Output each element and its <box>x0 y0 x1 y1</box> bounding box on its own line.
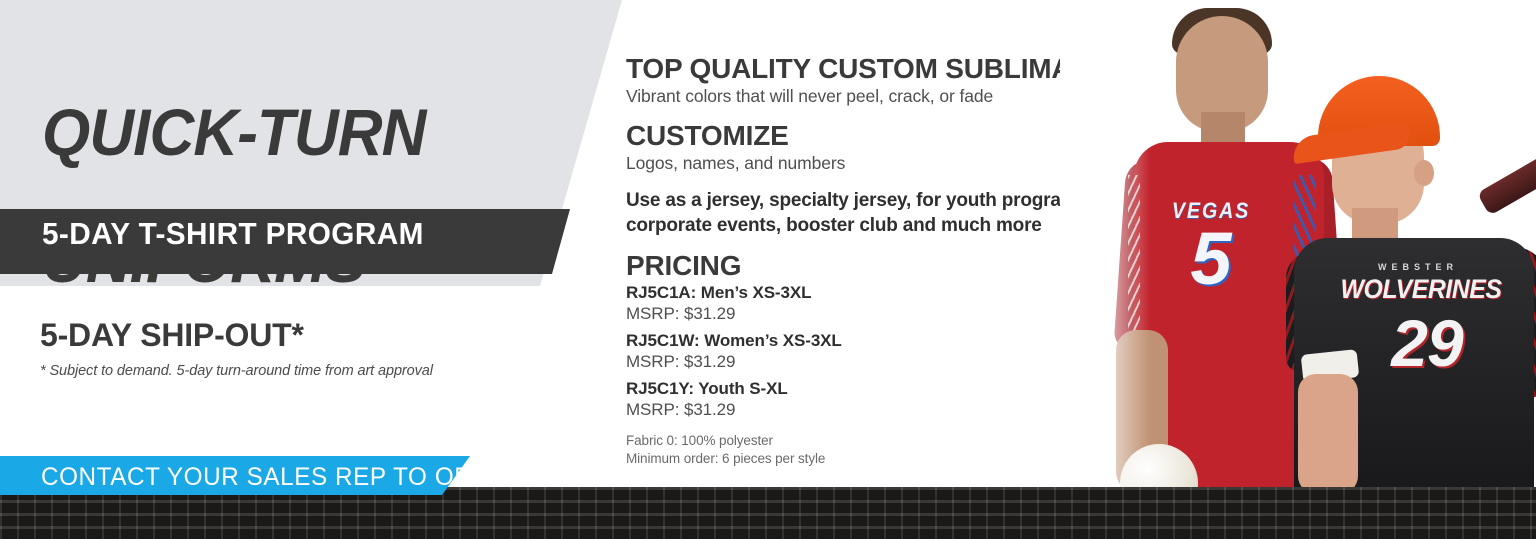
price-item-code: RJ5C1Y: Youth S-XL <box>626 379 788 399</box>
program-banner-label: 5-DAY T-SHIRT PROGRAM <box>42 216 424 252</box>
price-item-code: RJ5C1W: Women’s XS-3XL <box>626 331 842 351</box>
jersey-number-black: 29 <box>1352 310 1502 376</box>
price-item-msrp: MSRP: $31.29 <box>626 400 735 420</box>
minimum-order-note: Minimum order: 6 pieces per style <box>626 449 825 468</box>
jersey-team-prefix: WEBSTER <box>1338 262 1498 272</box>
page-title: QUICK-TURN UNIFORMS <box>42 38 550 355</box>
shipout-disclaimer: * Subject to demand. 5-day turn-around t… <box>40 363 433 379</box>
price-item-code: RJ5C1A: Men’s XS-3XL <box>626 283 811 303</box>
shipout-title: 5-DAY SHIP-OUT* <box>40 317 304 354</box>
photo-left-fade <box>1060 0 1150 492</box>
price-item-msrp: MSRP: $31.29 <box>626 352 735 372</box>
pricing-heading: PRICING <box>626 250 741 282</box>
athlete-black-arm <box>1298 374 1358 492</box>
customize-heading: CUSTOMIZE <box>626 120 789 152</box>
cta-label[interactable]: CONTACT YOUR SALES REP TO ORDER <box>41 463 525 492</box>
jersey-number-red: 5 <box>1150 222 1270 296</box>
jersey-wordmark-wolverines: WOLVERINES <box>1324 274 1517 305</box>
athlete-black-ear <box>1414 160 1434 186</box>
price-item-msrp: MSRP: $31.29 <box>626 304 735 324</box>
headline-line-1: QUICK-TURN <box>42 101 550 164</box>
customize-subtext: Logos, names, and numbers <box>626 153 845 174</box>
quality-subtext: Vibrant colors that will never peel, cra… <box>626 86 993 107</box>
athlete-black-jersey: WEBSTER WOLVERINES 29 <box>1290 52 1536 492</box>
promo-banner: QUICK-TURN UNIFORMS 5-DAY T-SHIRT PROGRA… <box>0 0 1536 539</box>
baseball-bat <box>1477 138 1536 216</box>
fabric-note: Fabric 0: 100% polyester <box>626 431 773 450</box>
athletes-photo: VEGAS 5 WEBSTER WOLVERINES 29 <box>1060 0 1536 492</box>
